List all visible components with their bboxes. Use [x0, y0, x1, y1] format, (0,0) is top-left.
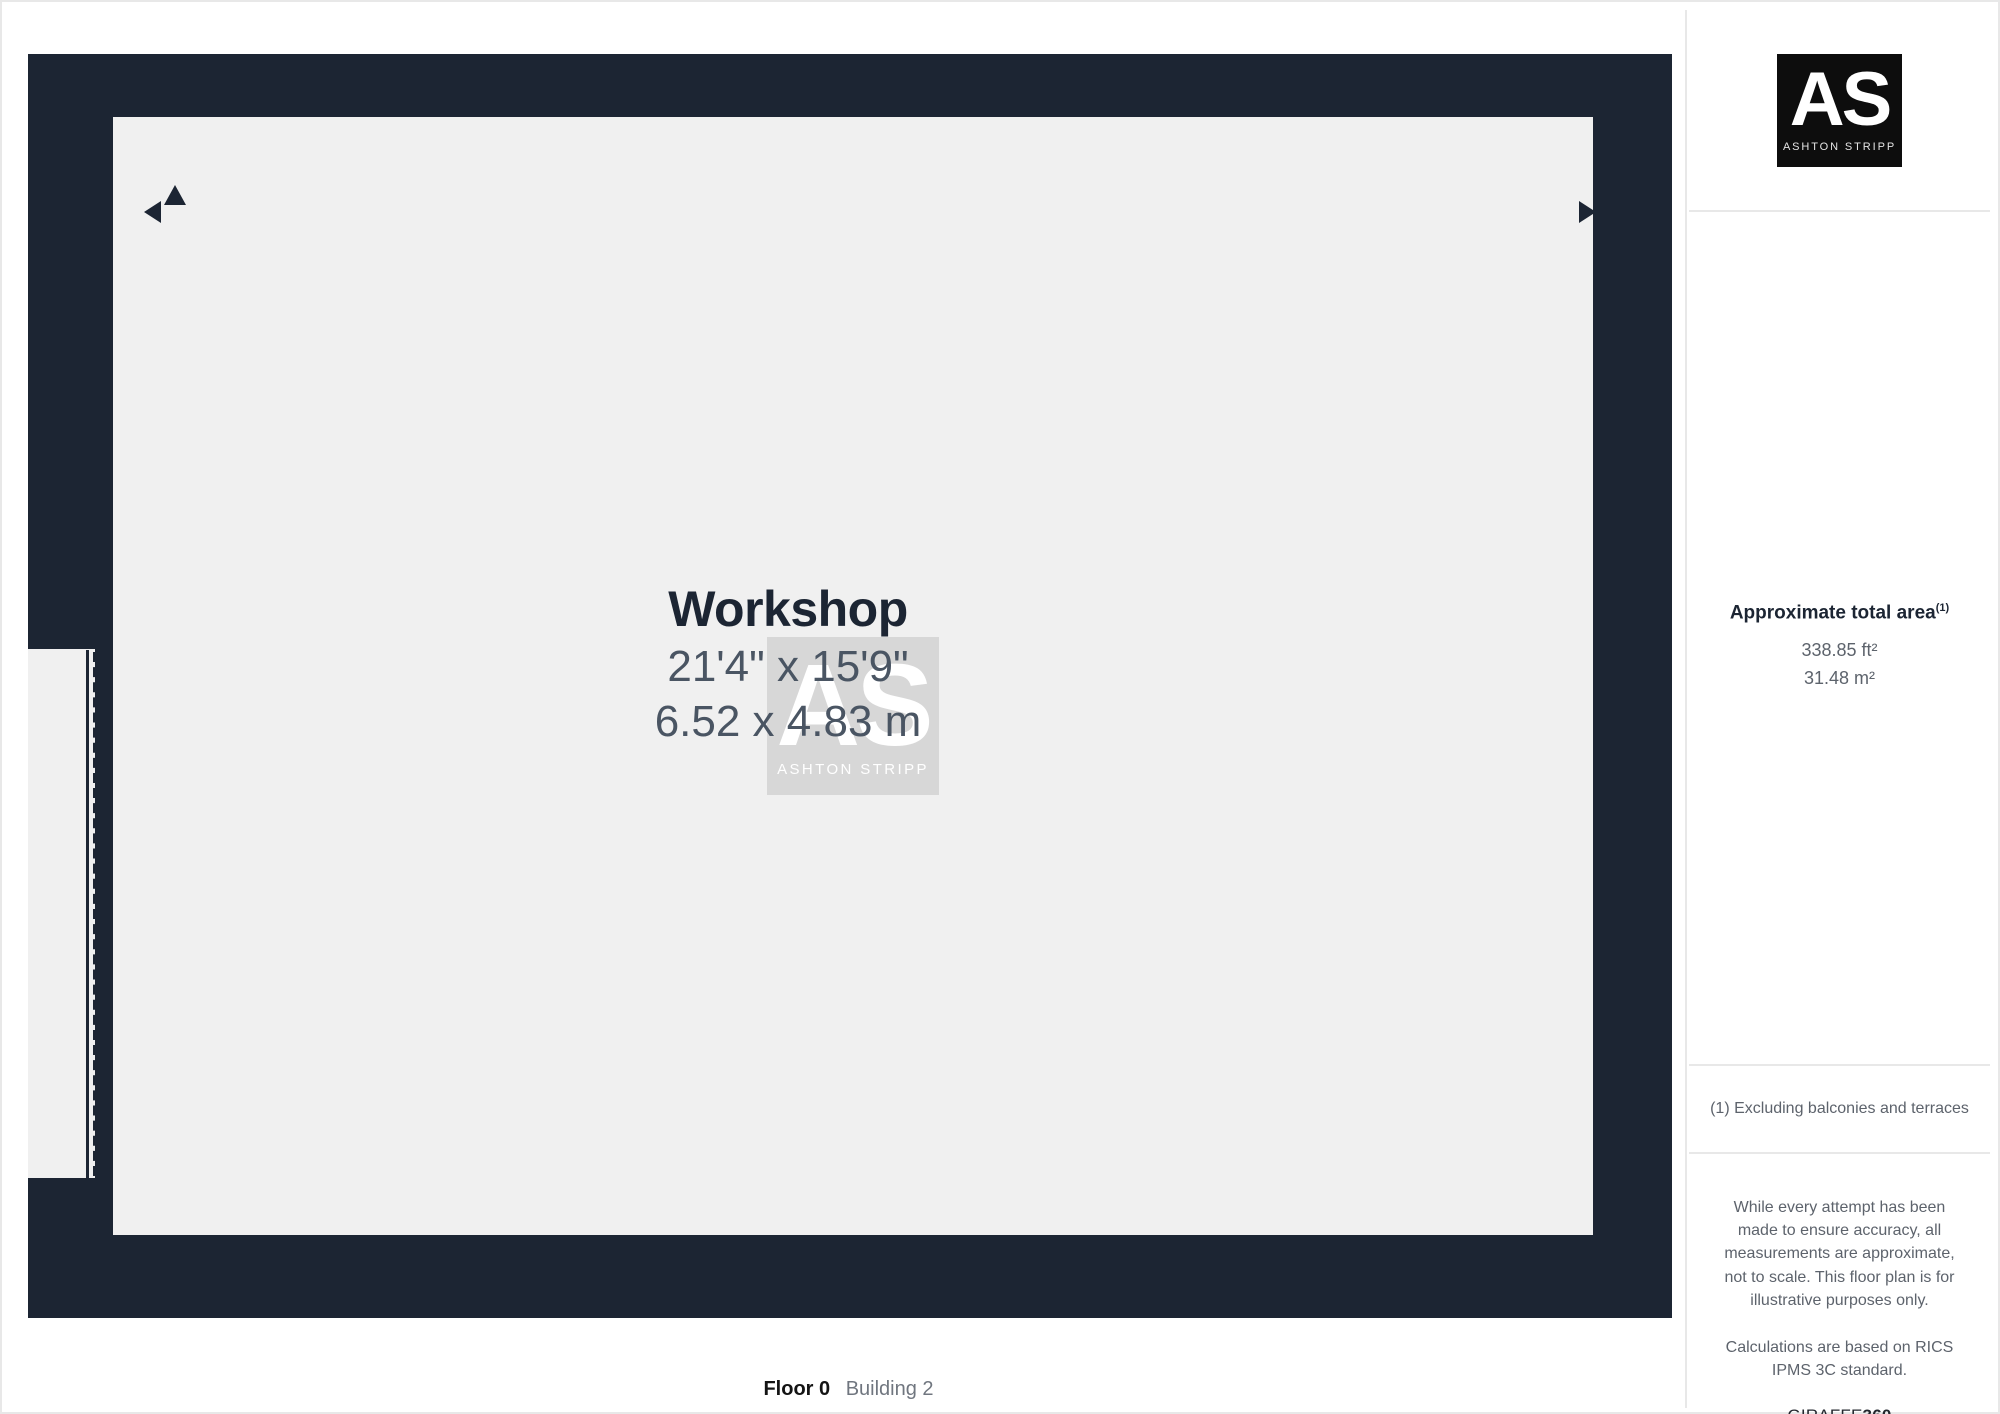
- giraffe360-logo: GIRAFFE360: [1715, 1406, 1964, 1414]
- logo-initials: AS: [1790, 67, 1890, 132]
- info-sidebar: AS ASHTON STRIPP Approximate total area(…: [1689, 10, 1990, 1408]
- building-label: Building 2: [846, 1378, 934, 1400]
- provider-name-light: GIRAFFE: [1787, 1406, 1862, 1414]
- dimension-arrow-down-icon: [164, 1238, 186, 1258]
- room-dimensions-metric: 6.52 x 4.83 m: [558, 694, 1018, 749]
- dimension-arrow-up-icon: [164, 185, 186, 205]
- disclaimer-section: While every attempt has been made to ens…: [1689, 1154, 1990, 1414]
- logo-name: ASHTON STRIPP: [1783, 141, 1896, 153]
- dimension-arrow-left-icon: [144, 201, 161, 223]
- opening-threshold-dashed-line: [93, 652, 98, 1176]
- ashton-stripp-logo: AS ASHTON STRIPP: [1777, 54, 1902, 167]
- room-label-group[interactable]: Workshop 21'4" x 15'9" 6.52 x 4.83 m: [558, 580, 1018, 750]
- floorplan-page: AS ASHTON STRIPP Workshop 21'4" x 15'9" …: [0, 0, 2000, 1414]
- floor-label: Floor 0: [763, 1378, 830, 1400]
- total-area-title: Approximate total area(1): [1689, 602, 1990, 624]
- total-area-section: Approximate total area(1) 338.85 ft² 31.…: [1689, 212, 1990, 1064]
- total-area-block: Approximate total area(1) 338.85 ft² 31.…: [1689, 602, 1990, 692]
- brand-logo-section: AS ASHTON STRIPP: [1689, 10, 1990, 210]
- provider-name-bold: 360: [1863, 1406, 1892, 1414]
- floorplan-canvas[interactable]: AS ASHTON STRIPP Workshop 21'4" x 15'9" …: [10, 10, 1687, 1408]
- opening-jamb-line: [86, 650, 89, 1178]
- total-area-sqm: 31.48 m²: [1689, 665, 1990, 692]
- disclaimer-standard: Calculations are based on RICS IPMS 3C s…: [1715, 1336, 1964, 1382]
- total-area-sqft: 338.85 ft²: [1689, 637, 1990, 664]
- total-area-footnote-marker: (1): [1936, 602, 1949, 614]
- floor-caption: Floor 0 Building 2: [10, 1378, 1687, 1401]
- room-name: Workshop: [558, 580, 1018, 639]
- watermark-name: ASHTON STRIPP: [777, 761, 929, 778]
- room-dimensions-imperial: 21'4" x 15'9": [558, 639, 1018, 694]
- wall-opening-left: [28, 649, 95, 1178]
- total-area-title-text: Approximate total area: [1730, 602, 1936, 623]
- disclaimer-accuracy: While every attempt has been made to ens…: [1715, 1196, 1964, 1312]
- footnote-text: (1) Excluding balconies and terraces: [1710, 1100, 1969, 1118]
- dimension-arrow-right-icon: [1579, 201, 1596, 223]
- footnote-section: (1) Excluding balconies and terraces: [1689, 1066, 1990, 1152]
